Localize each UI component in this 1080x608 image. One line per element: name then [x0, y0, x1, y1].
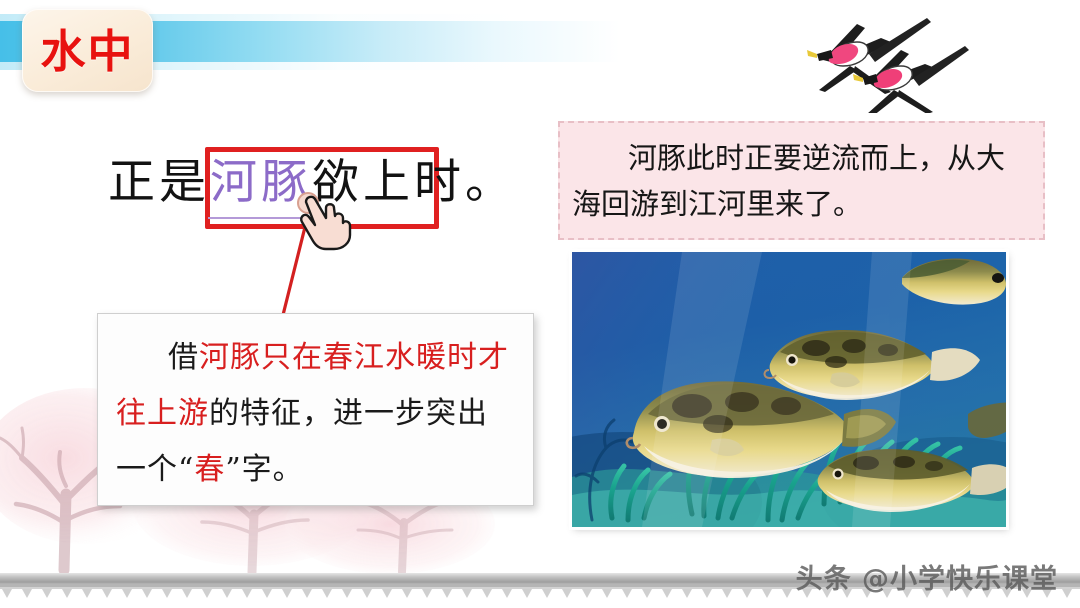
- pointing-hand-cursor-icon: [296, 192, 358, 252]
- pufferfish-photo: [572, 252, 1006, 527]
- verse-before: 正是: [108, 152, 210, 214]
- pink-note-text: 河豚此时正要逆流而上，从大海回游到江河里来了。: [572, 135, 1031, 227]
- section-tag: 水中: [22, 9, 153, 92]
- pink-note: 河豚此时正要逆流而上，从大海回游到江河里来了。: [558, 121, 1045, 240]
- swallows-icon: [795, 8, 985, 113]
- watermark: 头条 @小学快乐课堂: [796, 557, 1058, 596]
- callout-suffix: ”字。: [225, 452, 303, 487]
- explanation-callout-text: 借河豚只在春江水暖时才往上游的特征，进一步突出一个“春”字。: [116, 330, 515, 498]
- explanation-callout: 借河豚只在春江水暖时才往上游的特征，进一步突出一个“春”字。: [97, 313, 534, 506]
- section-tag-label: 水中: [40, 29, 134, 74]
- callout-highlight-2: 春: [194, 452, 225, 487]
- callout-prefix: 借: [168, 340, 199, 375]
- slide-canvas: 水中: [0, 0, 1080, 608]
